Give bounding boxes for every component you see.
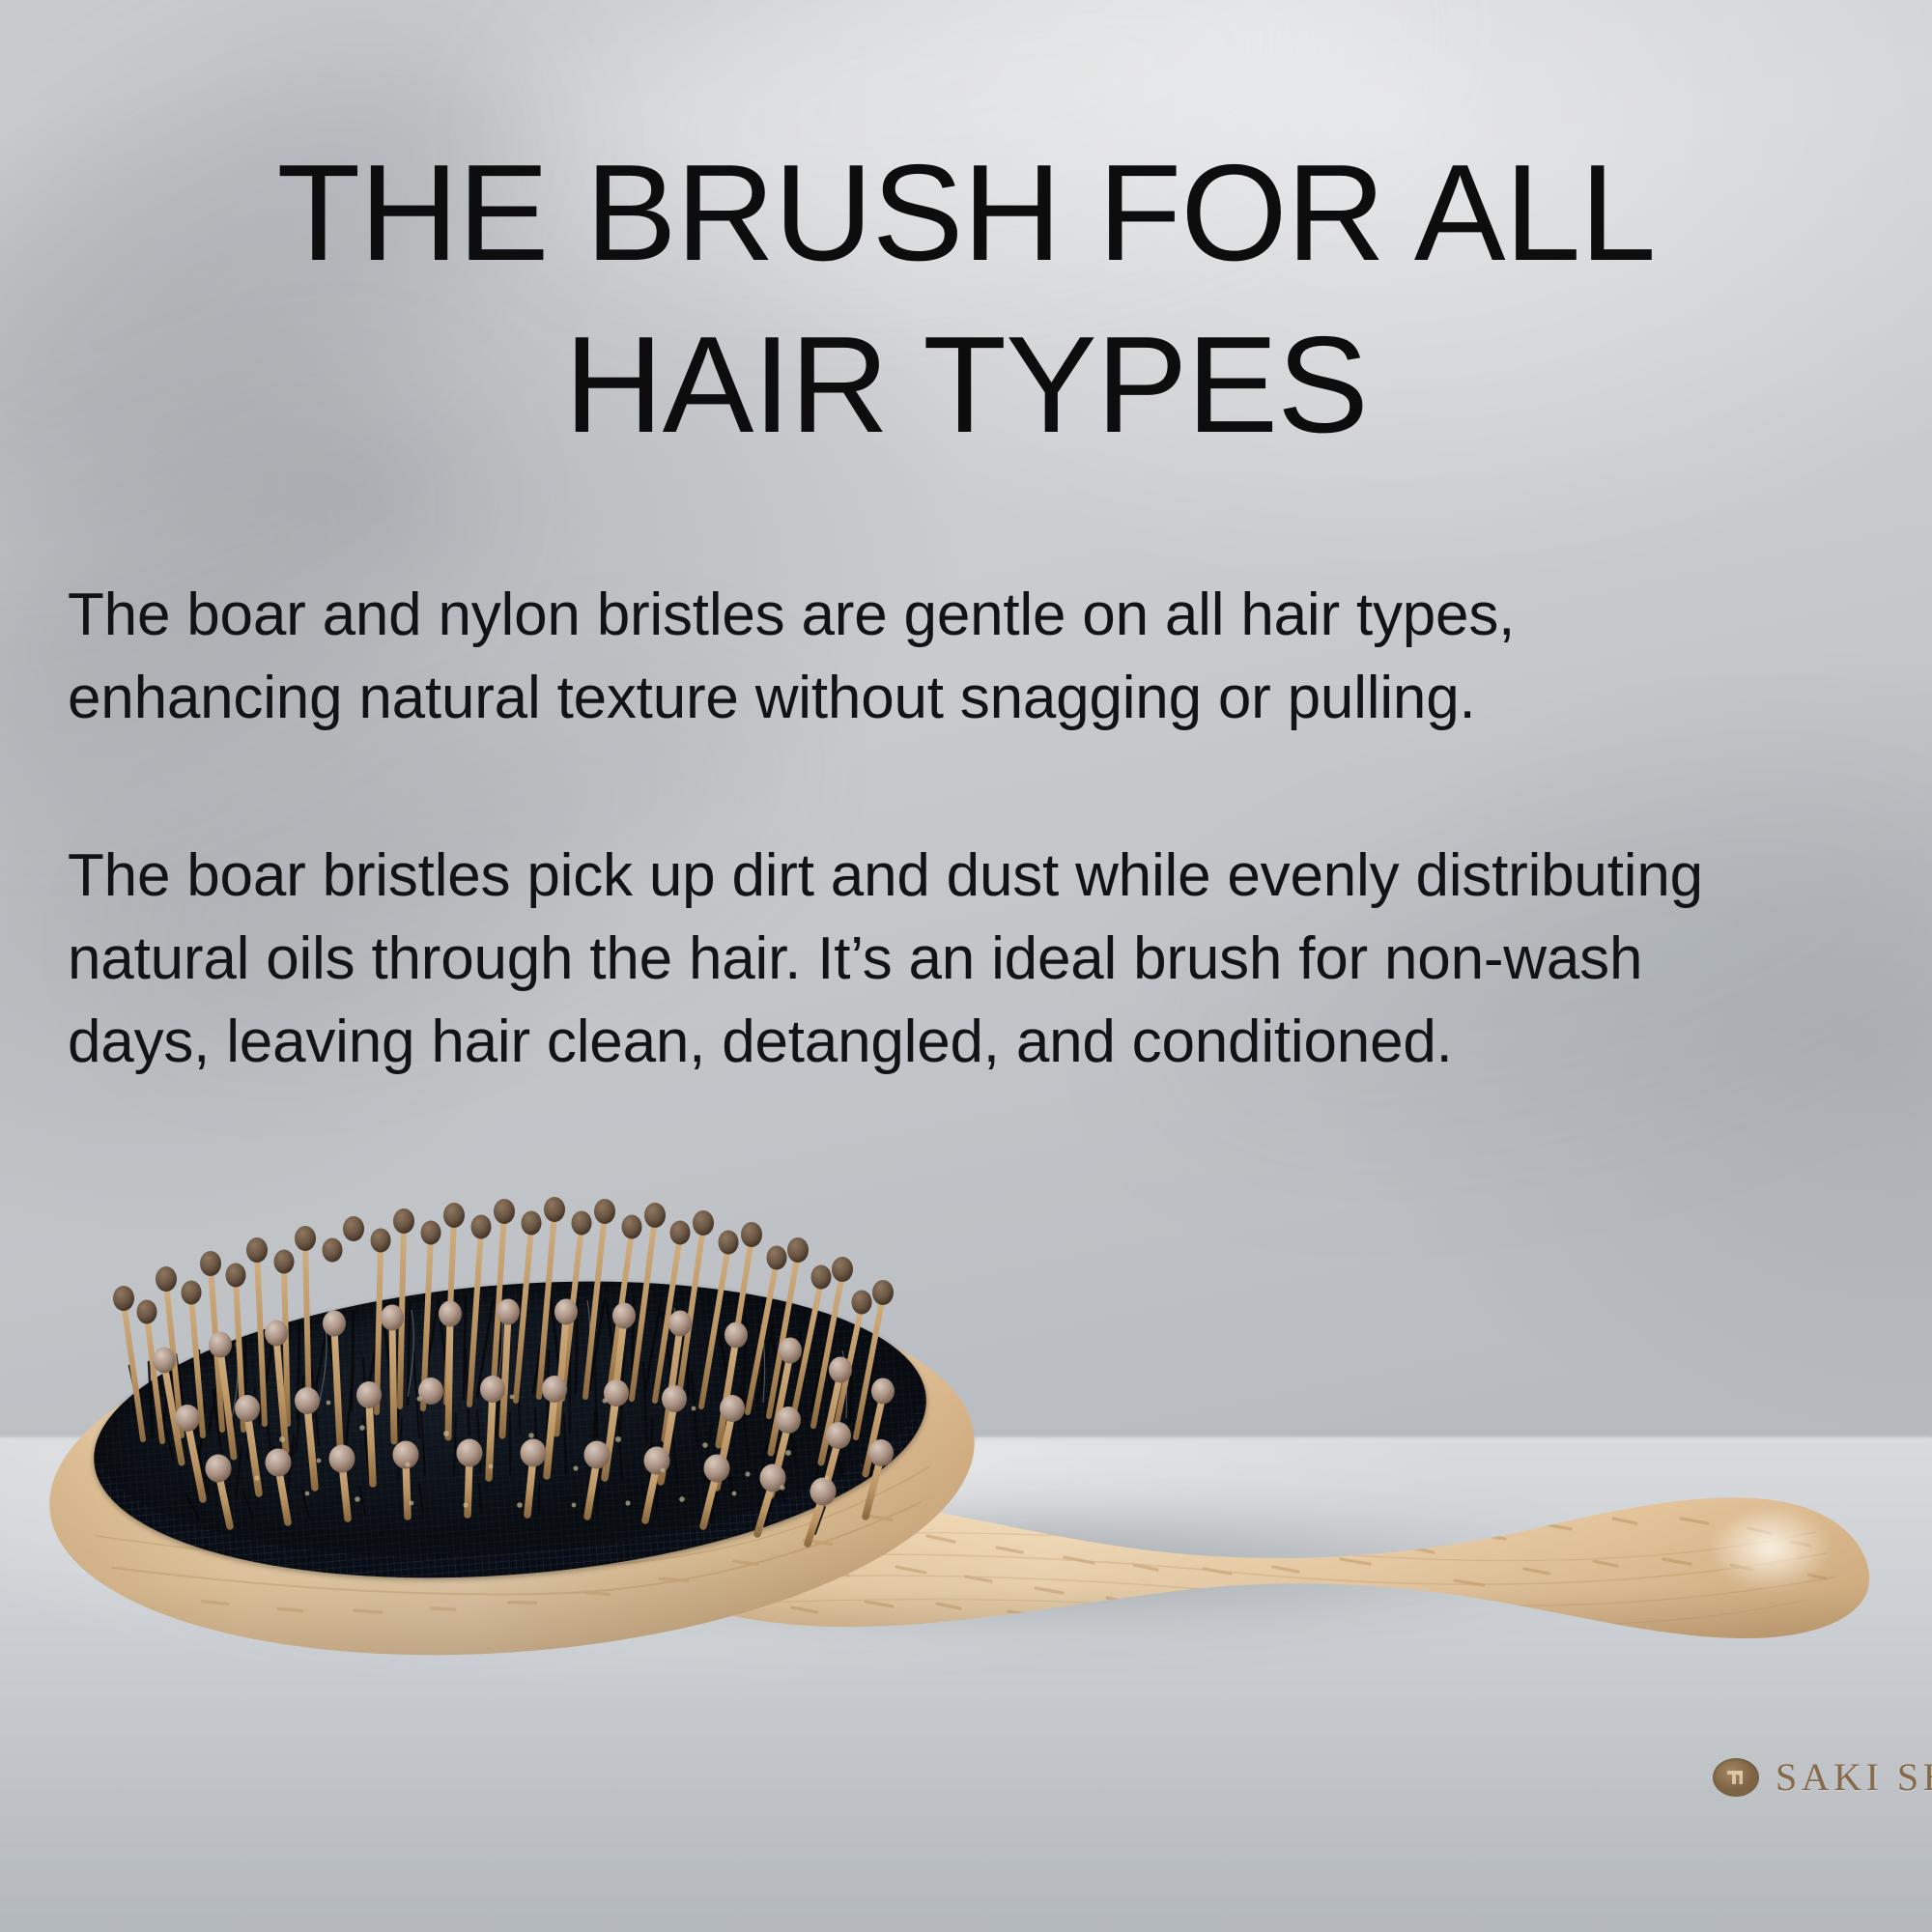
- brand-name: SAKI SHEARS: [1776, 1754, 1932, 1800]
- body-paragraph-2: The boar bristles pick up dirt and dust …: [68, 835, 1893, 1084]
- brand-logo: SAKI SHEARS: [1713, 1754, 1932, 1800]
- handle-end-highlight: [1700, 1507, 1884, 1634]
- bristle-field: [29, 1159, 1005, 1662]
- saki-logo-glyph-icon: [1713, 1758, 1759, 1797]
- body-paragraph-1: The boar and nylon bristles are gentle o…: [68, 574, 1893, 740]
- brush-head: [29, 1159, 1005, 1662]
- product-hair-brush: SAKI SHEARS: [0, 1150, 1932, 1739]
- page-title: THE BRUSH FOR ALL HAIR TYPES: [0, 128, 1932, 471]
- product-marketing-image: THE BRUSH FOR ALL HAIR TYPES The boar an…: [0, 0, 1932, 1932]
